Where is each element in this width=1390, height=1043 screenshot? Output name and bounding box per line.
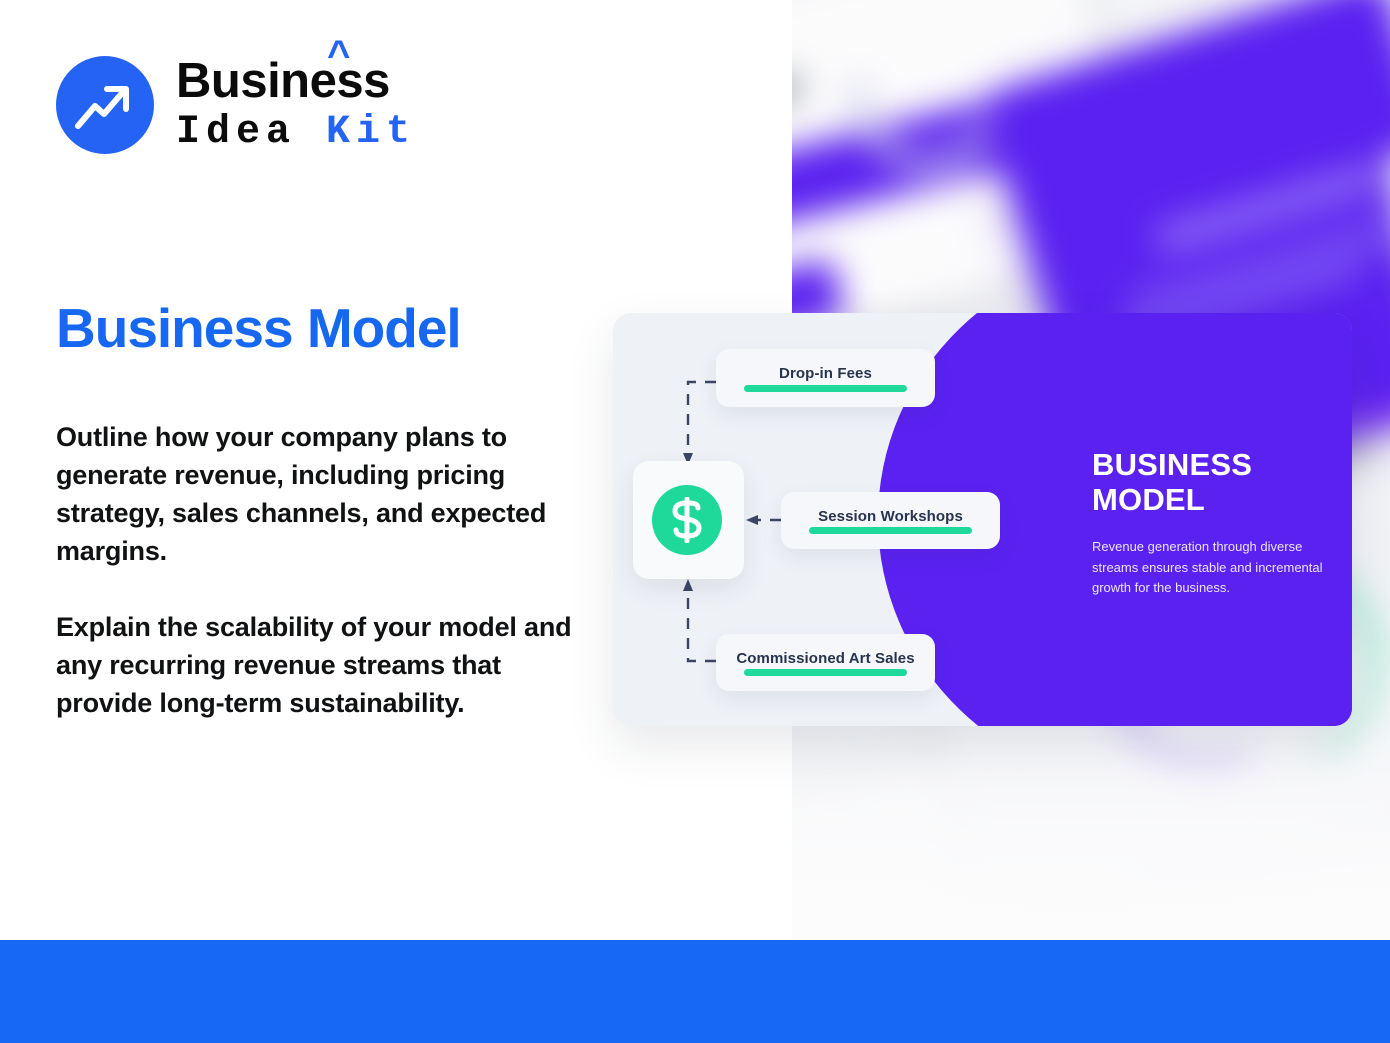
paragraph-1: Outline how your company plans to genera… [56, 418, 586, 570]
revenue-center-node [633, 461, 744, 579]
revenue-node-drop-in-fees[interactable]: Drop-in Fees [716, 349, 935, 407]
brand-name-idea: Idea [176, 110, 296, 155]
node-label: Session Workshops [781, 508, 1000, 525]
trending-up-arrow-icon [56, 56, 154, 154]
body-copy: Outline how your company plans to genera… [56, 418, 586, 722]
purple-panel-title-line1: BUSINESS [1092, 448, 1342, 483]
brand-name-top: Business ^ [176, 57, 416, 106]
revenue-node-session-workshops[interactable]: Session Workshops [781, 492, 1000, 549]
node-label: Commissioned Art Sales [716, 650, 935, 667]
slide-page: Business ^ Idea Kit Business Model Outli… [0, 0, 1390, 1043]
brand-caret-accent: ^ [327, 35, 350, 75]
node-accent-bar [744, 385, 907, 392]
node-label: Drop-in Fees [716, 365, 935, 382]
node-accent-bar [744, 669, 907, 676]
revenue-node-commissioned-art-sales[interactable]: Commissioned Art Sales [716, 634, 935, 691]
brand-name-bottom: Idea Kit [176, 113, 416, 153]
brand-name-top-text: Business [176, 54, 390, 108]
brand-logo: Business ^ Idea Kit [56, 56, 416, 154]
paragraph-2: Explain the scalability of your model an… [56, 608, 586, 722]
purple-panel-description: Revenue generation through diverse strea… [1092, 537, 1342, 597]
purple-panel-content: BUSINESS MODEL Revenue generation throug… [1092, 448, 1342, 598]
purple-panel-title-line2: MODEL [1092, 483, 1342, 518]
brand-name-kit: Kit [326, 110, 416, 155]
dollar-sign-icon [652, 485, 722, 555]
node-accent-bar [809, 527, 972, 534]
footer-bar [0, 940, 1390, 1043]
page-title: Business Model [56, 296, 461, 360]
